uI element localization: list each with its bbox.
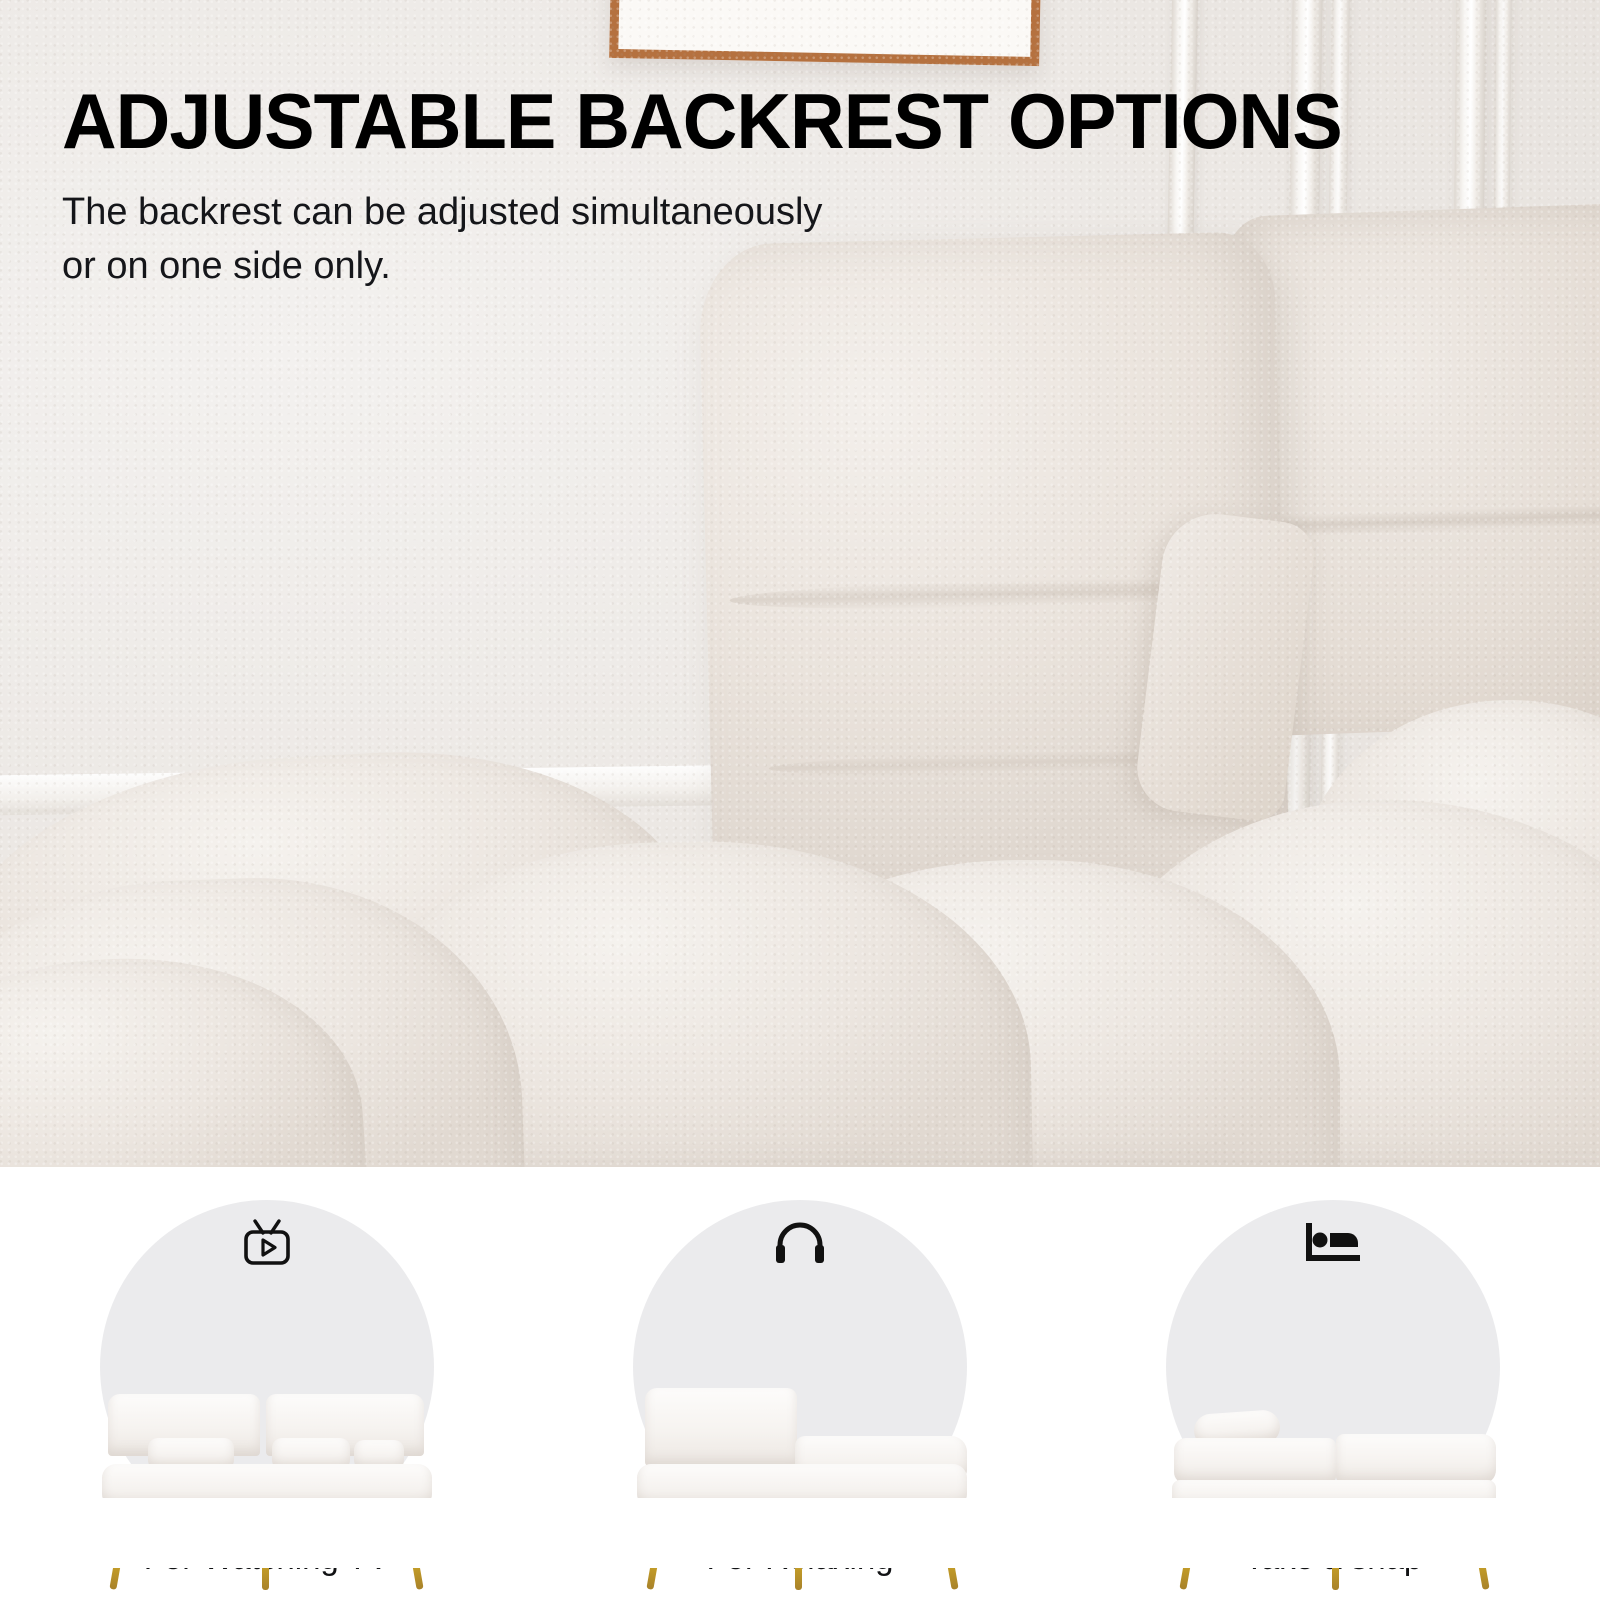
- page-title: ADJUSTABLE BACKREST OPTIONS: [62, 82, 1536, 160]
- page-subtitle: The backrest can be adjusted simultaneou…: [62, 186, 962, 294]
- feature-item-take-a-snap[interactable]: Take a snap: [1067, 1167, 1600, 1600]
- subtitle-line-1: The backrest can be adjusted simultaneou…: [62, 186, 962, 240]
- bed-icon: [1300, 1215, 1366, 1272]
- tv-icon: [237, 1215, 297, 1276]
- feature-band: For Watching TV: [0, 1167, 1600, 1600]
- subtitle-line-2: or on one side only.: [62, 240, 962, 294]
- feature-item-watching-tv[interactable]: For Watching TV: [0, 1167, 533, 1600]
- circle-bottom-mask: [1153, 1498, 1513, 1568]
- circle-bottom-mask: [620, 1498, 980, 1568]
- hero-text-block: ADJUSTABLE BACKREST OPTIONS The backrest…: [62, 82, 1582, 294]
- circle-bottom-mask: [87, 1498, 447, 1568]
- headphones-icon: [772, 1215, 828, 1272]
- wall-art-frame: [609, 0, 1045, 66]
- feature-item-relaxing[interactable]: For Relaxing: [533, 1167, 1066, 1600]
